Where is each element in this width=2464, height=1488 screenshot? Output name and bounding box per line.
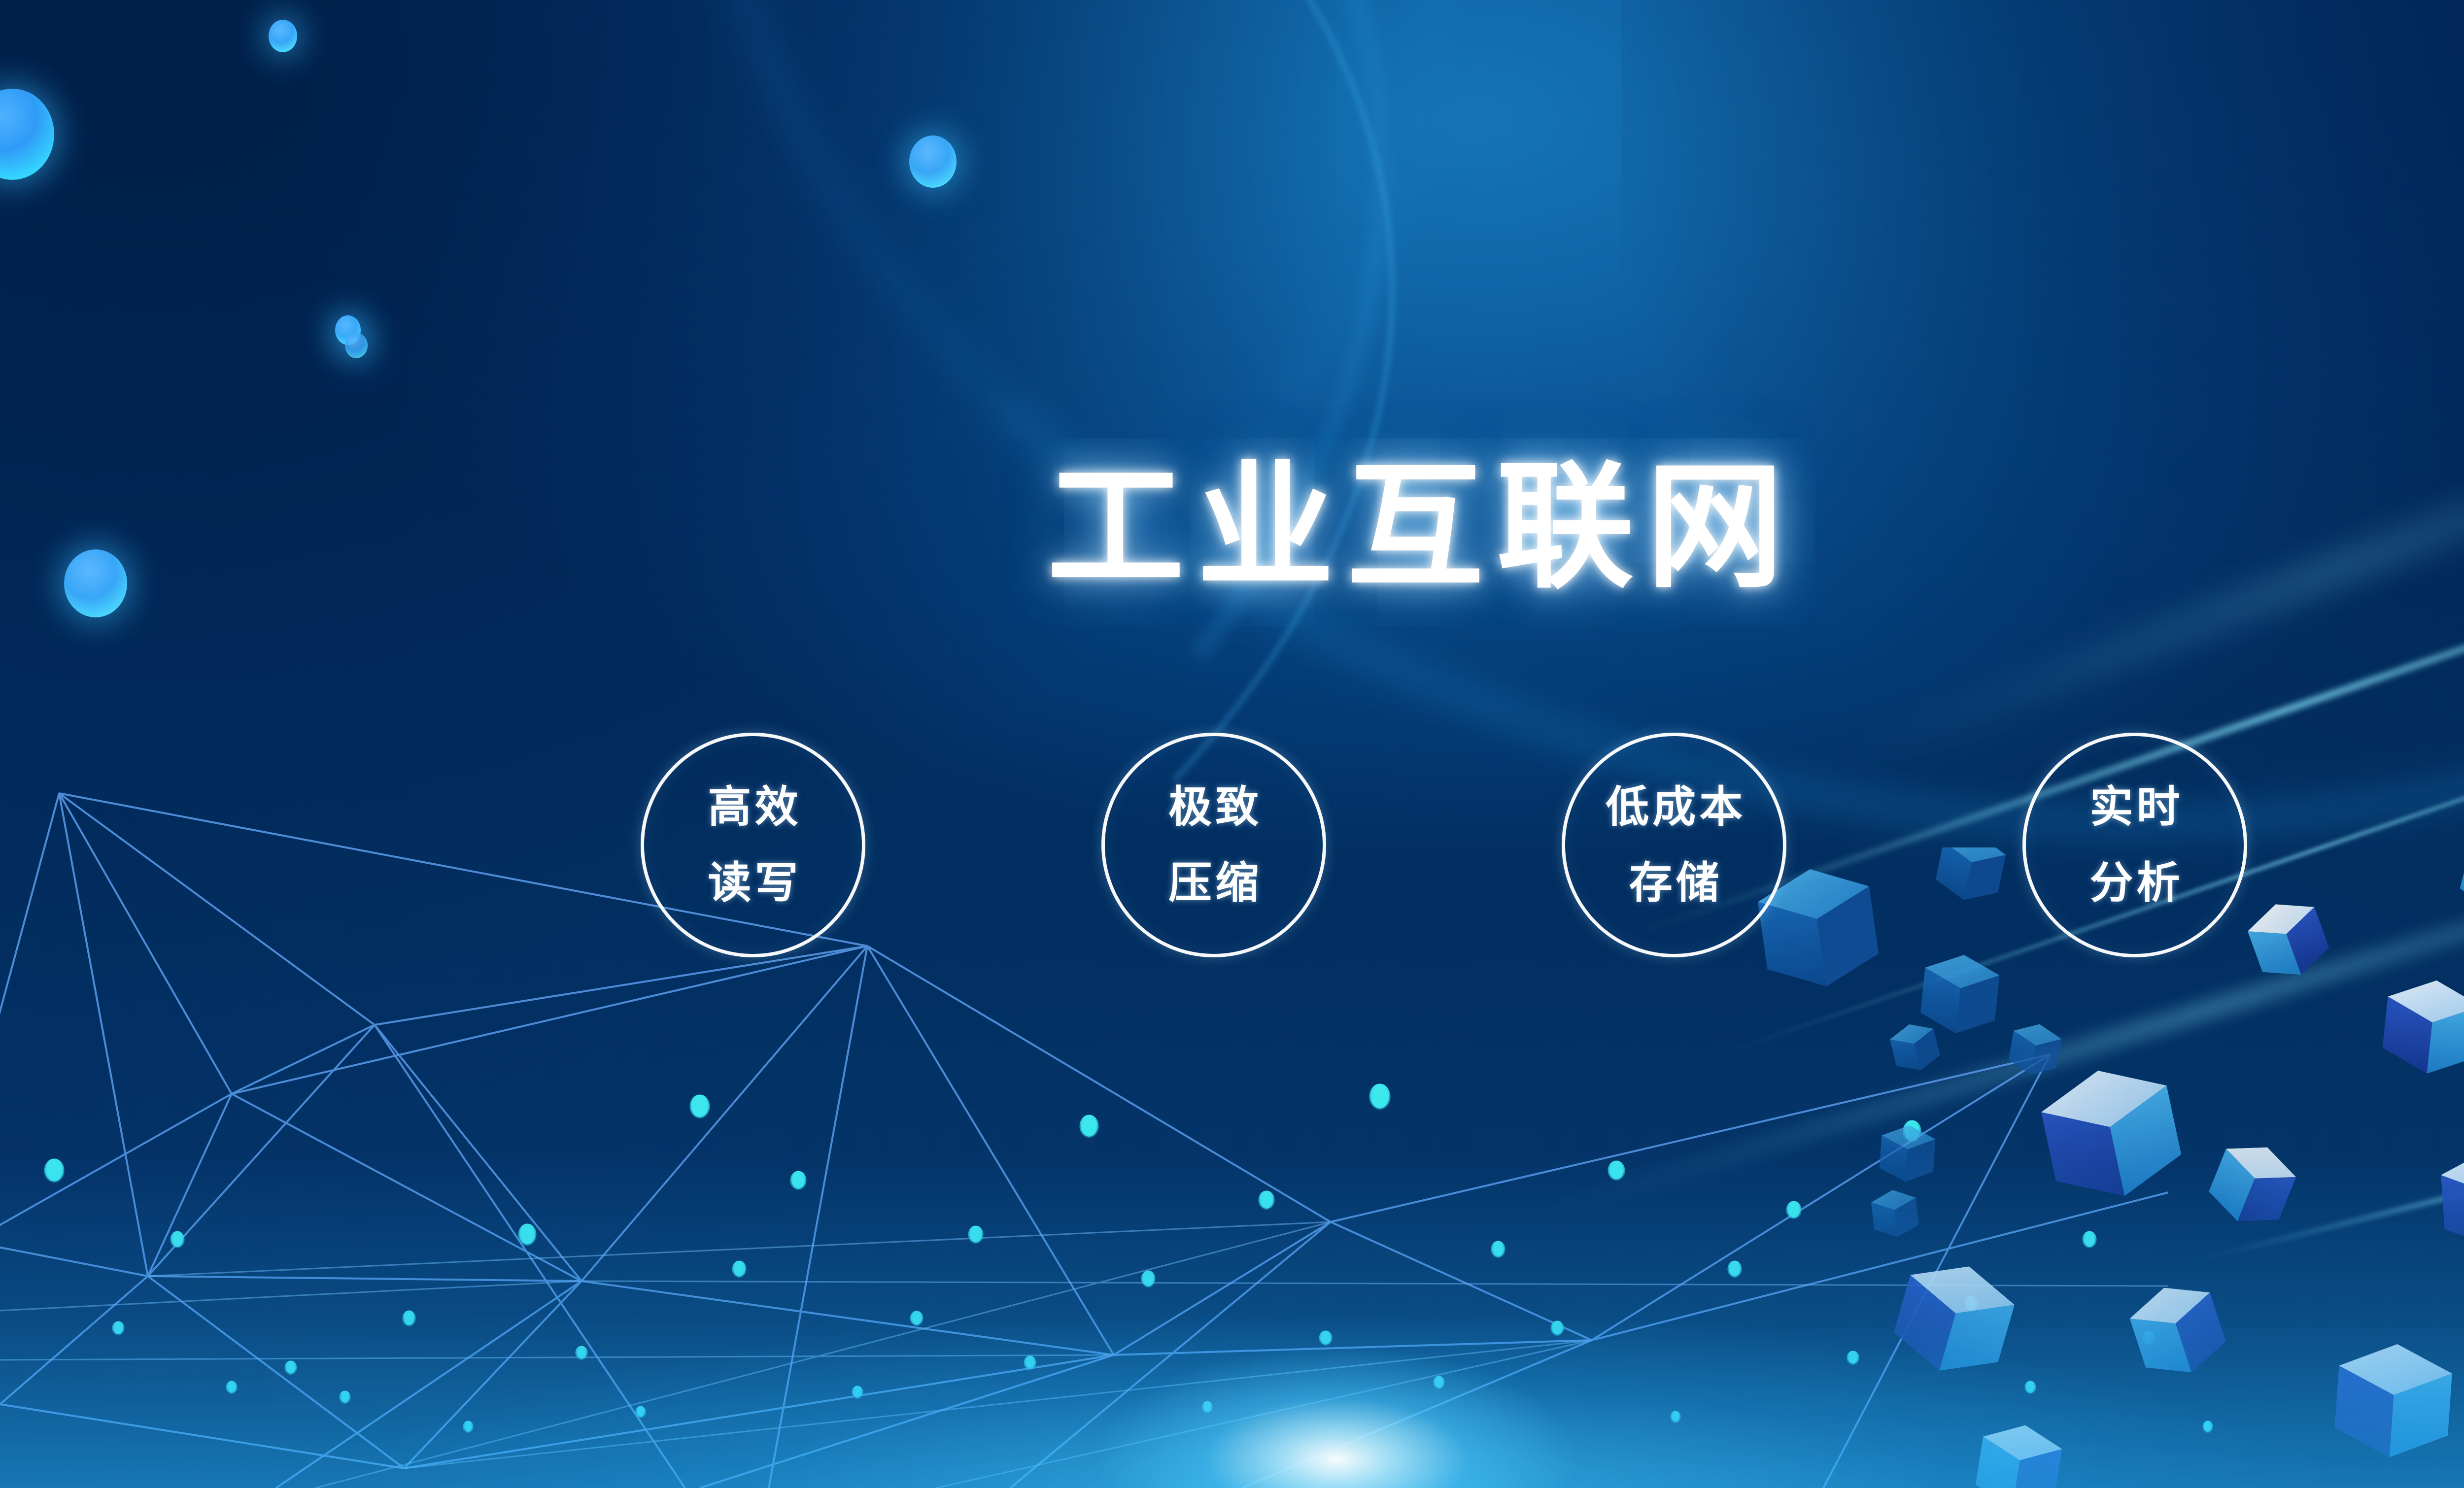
page-title: 工业互联网 (0, 459, 2464, 596)
feature-circle-realtime-analysis[interactable]: 实时 分析 (2022, 733, 2247, 957)
poster-canvas: 工业互联网 高效 读写 极致 压缩 低成本 存储 实时 分析 (0, 0, 2464, 1488)
feature-label-line1: 极致 (1165, 785, 1262, 829)
feature-label-line2: 存储 (1626, 861, 1723, 905)
feature-circle-row: 高效 读写 极致 压缩 低成本 存储 实时 分析 (641, 733, 2247, 957)
feature-circle-high-efficiency-read-write[interactable]: 高效 读写 (641, 733, 865, 957)
feature-label-line1: 高效 (704, 785, 801, 829)
poster-content: 工业互联网 高效 读写 极致 压缩 低成本 存储 实时 分析 (0, 0, 2464, 1488)
feature-label-line2: 压缩 (1165, 861, 1262, 905)
feature-circle-ultimate-compression[interactable]: 极致 压缩 (1101, 733, 1326, 957)
feature-circle-low-cost-storage[interactable]: 低成本 存储 (1562, 733, 1786, 957)
feature-label-line1: 低成本 (1602, 785, 1746, 829)
feature-label-line2: 分析 (2086, 861, 2183, 905)
feature-label-line2: 读写 (704, 861, 801, 905)
feature-label-line1: 实时 (2086, 785, 2183, 829)
